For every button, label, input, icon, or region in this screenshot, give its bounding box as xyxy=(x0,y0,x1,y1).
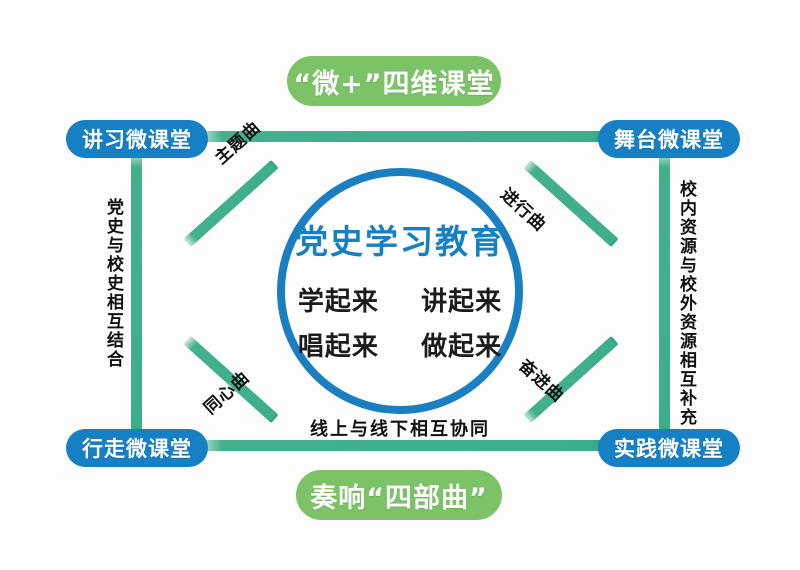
center-line-1-left: 学起来 xyxy=(298,281,379,318)
center-line-1-right: 讲起来 xyxy=(421,281,502,318)
connector-bar-left xyxy=(131,150,142,440)
side-label-right: 校内资源与校外资源相互补充 xyxy=(674,180,699,427)
center-title: 党史学习教育 xyxy=(295,215,505,263)
center-line-1: 学起来 讲起来 xyxy=(298,281,502,318)
banner-top: “微+”四维课堂 xyxy=(287,56,501,106)
center-line-2-right: 做起来 xyxy=(421,326,502,363)
node-top-right: 舞台微课堂 xyxy=(598,120,740,158)
node-top-left: 讲习微课堂 xyxy=(66,120,208,158)
diagram-canvas: “微+”四维课堂 讲习微课堂 舞台微课堂 行走微课堂 实践微课堂 党史学习教育 … xyxy=(0,0,800,570)
connector-bar-right xyxy=(659,150,670,440)
connector-bar-diagonal-top-left xyxy=(183,160,278,247)
banner-bottom: 奏响“四部曲” xyxy=(296,470,502,520)
center-line-2: 唱起来 做起来 xyxy=(298,326,502,363)
side-label-left: 党史与校史相互结合 xyxy=(101,198,126,369)
connector-bar-bottom xyxy=(198,440,604,451)
center-text-group: 党史学习教育 学起来 讲起来 唱起来 做起来 xyxy=(277,168,523,414)
center-line-2-left: 唱起来 xyxy=(298,326,379,363)
side-label-bottom: 线上与线下相互协同 xyxy=(0,415,800,441)
